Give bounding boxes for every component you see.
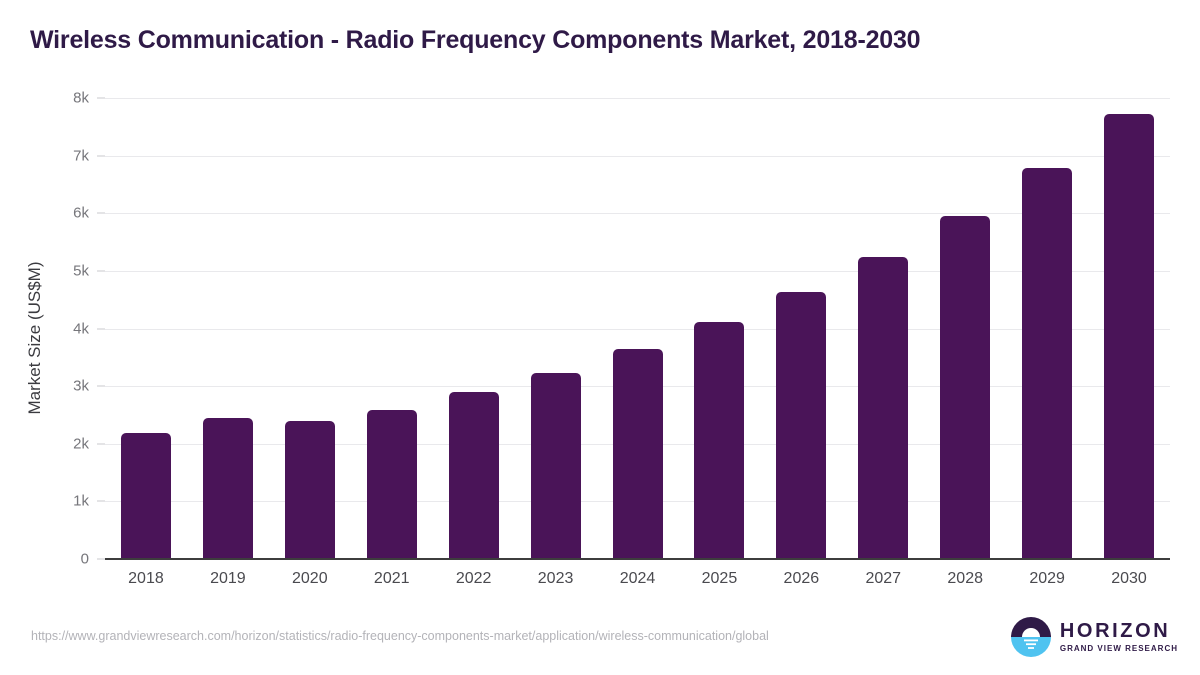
bar-slot xyxy=(694,98,744,559)
horizon-logo-icon xyxy=(1011,617,1051,657)
y-tick-mark xyxy=(97,443,105,444)
bar-slot xyxy=(449,98,499,559)
x-tick-label-2022: 2022 xyxy=(433,570,515,588)
x-tick-label-2021: 2021 xyxy=(351,570,433,588)
bar-2021[interactable] xyxy=(367,410,417,559)
bar-slot xyxy=(1104,98,1154,559)
bar-2018[interactable] xyxy=(121,433,171,559)
horizon-logo: HORIZON GRAND VIEW RESEARCH xyxy=(1011,617,1178,657)
bar-series xyxy=(105,98,1170,559)
page-title: Wireless Communication - Radio Frequency… xyxy=(30,26,920,55)
logo-subtitle: GRAND VIEW RESEARCH xyxy=(1060,645,1178,653)
bar-slot xyxy=(121,98,171,559)
bar-slot xyxy=(613,98,663,559)
y-tick-mark xyxy=(97,328,105,329)
x-tick-label-2019: 2019 xyxy=(187,570,269,588)
y-tick-mark xyxy=(97,559,105,560)
x-tick-label-2030: 2030 xyxy=(1088,570,1170,588)
x-tick-label-2018: 2018 xyxy=(105,570,187,588)
bar-2019[interactable] xyxy=(203,418,253,559)
x-tick-label-2029: 2029 xyxy=(1006,570,1088,588)
x-tick-label-2028: 2028 xyxy=(924,570,1006,588)
bar-slot xyxy=(531,98,581,559)
bar-slot xyxy=(858,98,908,559)
bar-2022[interactable] xyxy=(449,392,499,559)
bar-2024[interactable] xyxy=(613,349,663,559)
y-tick-mark xyxy=(97,501,105,502)
bar-slot xyxy=(285,98,335,559)
y-tick-mark xyxy=(97,98,105,99)
x-tick-label-2020: 2020 xyxy=(269,570,351,588)
bar-2025[interactable] xyxy=(694,322,744,559)
x-tick-label-2026: 2026 xyxy=(760,570,842,588)
y-tick-mark xyxy=(97,213,105,214)
logo-name: HORIZON xyxy=(1060,621,1178,641)
source-url[interactable]: https://www.grandviewresearch.com/horizo… xyxy=(31,628,946,645)
x-tick-label-2023: 2023 xyxy=(515,570,597,588)
bar-2020[interactable] xyxy=(285,421,335,559)
bar-2026[interactable] xyxy=(776,292,826,559)
x-tick-label-2025: 2025 xyxy=(678,570,760,588)
bar-slot xyxy=(940,98,990,559)
y-tick-mark xyxy=(97,386,105,387)
bar-2028[interactable] xyxy=(940,216,990,559)
bar-2027[interactable] xyxy=(858,257,908,559)
y-axis-label: Market Size (US$M) xyxy=(25,58,45,618)
chart-page: Wireless Communication - Radio Frequency… xyxy=(0,0,1200,675)
bar-slot xyxy=(367,98,417,559)
x-axis-line xyxy=(105,558,1170,560)
bar-slot xyxy=(776,98,826,559)
y-tick-mark xyxy=(97,270,105,271)
bar-slot xyxy=(203,98,253,559)
y-tick-mark xyxy=(97,155,105,156)
x-tick-label-2027: 2027 xyxy=(842,570,924,588)
x-tick-label-2024: 2024 xyxy=(597,570,679,588)
bar-2029[interactable] xyxy=(1022,168,1072,559)
horizon-logo-text: HORIZON GRAND VIEW RESEARCH xyxy=(1060,621,1178,653)
bar-2023[interactable] xyxy=(531,373,581,559)
bar-slot xyxy=(1022,98,1072,559)
bar-2030[interactable] xyxy=(1104,114,1154,559)
